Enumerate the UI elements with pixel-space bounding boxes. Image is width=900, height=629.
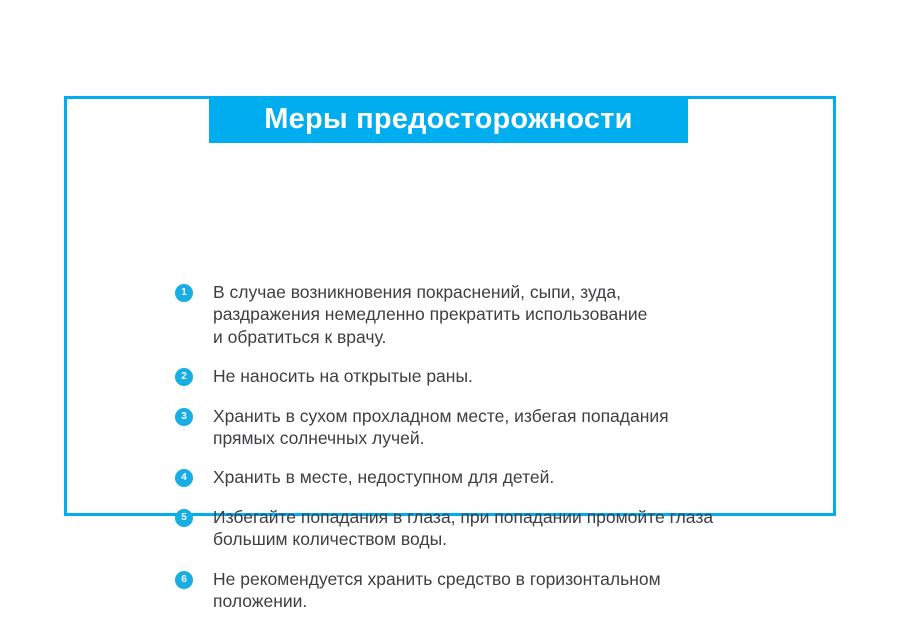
list-item-number-badge: 6 bbox=[175, 571, 193, 589]
list-item-text: В случае возникновения покраснений, сыпи… bbox=[213, 281, 875, 348]
title-banner: Меры предосторожности bbox=[209, 96, 688, 143]
list-item: 1В случае возникновения покраснений, сып… bbox=[175, 281, 875, 348]
list-item-number-badge: 4 bbox=[175, 469, 193, 487]
list-item-text: Не рекомендуется хранить средство в гори… bbox=[213, 568, 875, 613]
list-item-number-badge: 2 bbox=[175, 368, 193, 386]
list-item-text: Избегайте попадания в глаза, при попадан… bbox=[213, 506, 875, 551]
page-title: Меры предосторожности bbox=[264, 105, 632, 134]
list-item-number-badge: 5 bbox=[175, 509, 193, 527]
list-item: 2Не наносить на открытые раны. bbox=[175, 365, 875, 387]
list-item-number-badge: 1 bbox=[175, 284, 193, 302]
list-item: 5Избегайте попадания в глаза, при попада… bbox=[175, 506, 875, 551]
list-item: 3Хранить в сухом прохладном месте, избег… bbox=[175, 405, 875, 450]
list-item-text: Хранить в сухом прохладном месте, избега… bbox=[213, 405, 875, 450]
list-item-text: Хранить в месте, недоступном для детей. bbox=[213, 466, 875, 488]
list-item: 4Хранить в месте, недоступном для детей. bbox=[175, 466, 875, 488]
list-item: 6Не рекомендуется хранить средство в гор… bbox=[175, 568, 875, 613]
list-item-text: Не наносить на открытые раны. bbox=[213, 365, 875, 387]
precautions-list: 1В случае возникновения покраснений, сып… bbox=[175, 281, 875, 629]
precautions-card: 1В случае возникновения покраснений, сып… bbox=[64, 96, 836, 516]
list-item-number-badge: 3 bbox=[175, 408, 193, 426]
